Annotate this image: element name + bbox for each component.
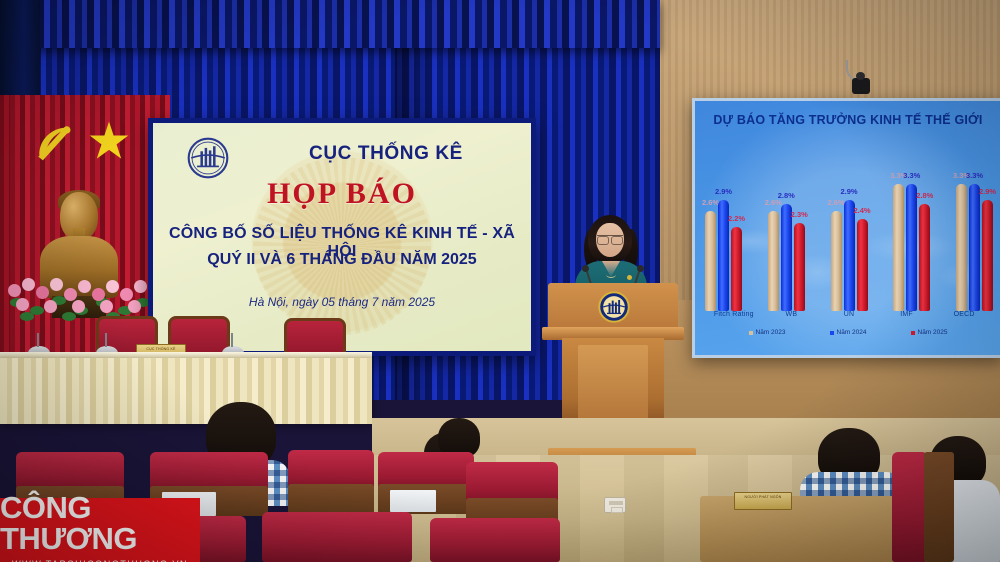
desk-nameplate-text: NGƯỜI PHÁT NGÔN <box>735 493 791 499</box>
chart-bar-label: 2.4% <box>853 206 870 215</box>
chart-legend: Năm 2023Năm 2024Năm 2025 <box>695 329 1000 336</box>
banner-organization: CỤC THỐNG KÊ <box>243 143 529 165</box>
hammer-and-sickle-icon <box>30 118 76 164</box>
yellow-star-icon <box>88 120 130 162</box>
chart-legend-item: Năm 2025 <box>911 329 948 336</box>
chart-bar-label: 2.3% <box>791 210 808 219</box>
seat-paper-card <box>390 490 436 512</box>
chart-bar-group: 2.6%2.9%2.4% <box>831 173 868 311</box>
banner-headline: HỌP BÁO <box>153 177 531 211</box>
audience-seat-front <box>262 512 412 562</box>
podium-top-panel <box>548 283 678 331</box>
banner-subtitle-line2: QUÝ II VÀ 6 THÁNG ĐẦU NĂM 2025 <box>153 251 531 269</box>
audience-seat-front <box>430 518 560 562</box>
chart-category-label: WB <box>763 311 821 318</box>
chart-bar: 3.3% <box>956 184 967 311</box>
head-table-skirt <box>0 358 372 424</box>
publisher-watermark: CÔNG THƯƠNG WWW.TAPCHICONGTHUONG.VN <box>0 498 200 562</box>
press-conference-photo: CỤC THỐNG KÊ HỌP BÁO CÔNG BỐ SỐ LIỆU THỐ… <box>0 0 1000 562</box>
podium-gso-emblem-icon <box>598 291 630 323</box>
chart-legend-item: Năm 2024 <box>830 329 867 336</box>
chart-bar: 2.3% <box>794 223 805 311</box>
chart-bar-label: 2.6% <box>827 198 844 207</box>
chart-legend-item: Năm 2023 <box>749 329 786 336</box>
banner-date-line: Hà Nội, ngày 05 tháng 7 năm 2025 <box>153 295 531 309</box>
chart-bar: 2.9% <box>844 200 855 311</box>
podium-inset-panel <box>578 345 648 419</box>
chart-bar-group: 3.3%3.3%2.9% <box>956 173 993 311</box>
chart-bar-label: 2.6% <box>702 198 719 207</box>
chart-bar-label: 2.8% <box>778 191 795 200</box>
chart-bar-label: 2.9% <box>715 187 732 196</box>
chart-bar: 2.6% <box>705 211 716 311</box>
audience-seat-side-back <box>924 452 954 562</box>
speaker-necklace <box>606 271 616 278</box>
chart-legend-swatch <box>830 331 834 335</box>
chart-projection-screen: DỰ BÁO TĂNG TRƯỞNG KINH TẾ THẾ GIỚI 2.6%… <box>692 98 1000 358</box>
chart-bar-group: 3.3%3.3%2.8% <box>893 173 930 311</box>
chart-plot-area: 2.6%2.9%2.2%2.6%2.8%2.3%2.6%2.9%2.4%3.3%… <box>705 173 993 311</box>
wall-power-outlet <box>604 497 626 513</box>
gso-emblem-icon <box>187 137 229 179</box>
podium-mic-left <box>582 265 589 272</box>
ceiling-camera-icon <box>852 78 870 94</box>
chart-bar-label: 2.2% <box>728 214 745 223</box>
chart-bar: 2.9% <box>982 200 993 311</box>
chart-legend-label: Năm 2023 <box>756 329 786 336</box>
chart-bar-group: 2.6%2.8%2.3% <box>768 173 805 311</box>
chart-bar: 2.6% <box>768 211 779 311</box>
watermark-brand: CÔNG THƯƠNG <box>0 492 200 554</box>
chart-category-label: Fitch Rating <box>705 311 763 318</box>
stage-nameplate-text: CỤC THỐNG KÊ <box>137 345 185 351</box>
desk-nameplate: NGƯỜI PHÁT NGÔN <box>734 492 792 510</box>
audience-desk <box>700 496 900 562</box>
chart-bar: 3.3% <box>893 184 904 311</box>
chart-bar-label: 2.9% <box>840 187 857 196</box>
chart-legend-swatch <box>749 331 753 335</box>
chart-legend-swatch <box>911 331 915 335</box>
chart-category-label: OECD <box>935 311 993 318</box>
chart-bar: 2.2% <box>731 227 742 311</box>
chart-bar: 3.3% <box>969 184 980 311</box>
chart-category-label: IMF <box>878 311 936 318</box>
speaker-glasses-icon <box>597 235 623 242</box>
watermark-url: WWW.TAPCHICONGTHUONG.VN <box>12 559 188 562</box>
curtain-valance <box>0 0 660 48</box>
chart-legend-label: Năm 2025 <box>918 329 948 336</box>
speaker-lapel-badge <box>627 275 632 280</box>
chart-category-axis: Fitch RatingWBUNIMFOECD <box>705 311 993 318</box>
chart-category-label: UN <box>820 311 878 318</box>
audience-seat-side <box>892 452 928 562</box>
chart-bar-label: 2.9% <box>979 187 996 196</box>
chart-title: DỰ BÁO TĂNG TRƯỞNG KINH TẾ THẾ GIỚI <box>695 113 1000 127</box>
chart-bar: 2.8% <box>919 204 930 311</box>
podium-mic-right <box>637 265 644 272</box>
chart-bar: 2.8% <box>781 204 792 311</box>
chart-bar: 2.6% <box>831 211 842 311</box>
chart-bar-group: 2.6%2.9%2.2% <box>705 173 742 311</box>
chart-bar-label: 2.8% <box>916 191 933 200</box>
chart-legend-label: Năm 2024 <box>837 329 867 336</box>
chart-bar: 2.4% <box>857 219 868 311</box>
chart-bar-label: 3.3% <box>903 171 920 180</box>
chart-bar-label: 3.3% <box>966 171 983 180</box>
chart-bar: 3.3% <box>906 184 917 311</box>
